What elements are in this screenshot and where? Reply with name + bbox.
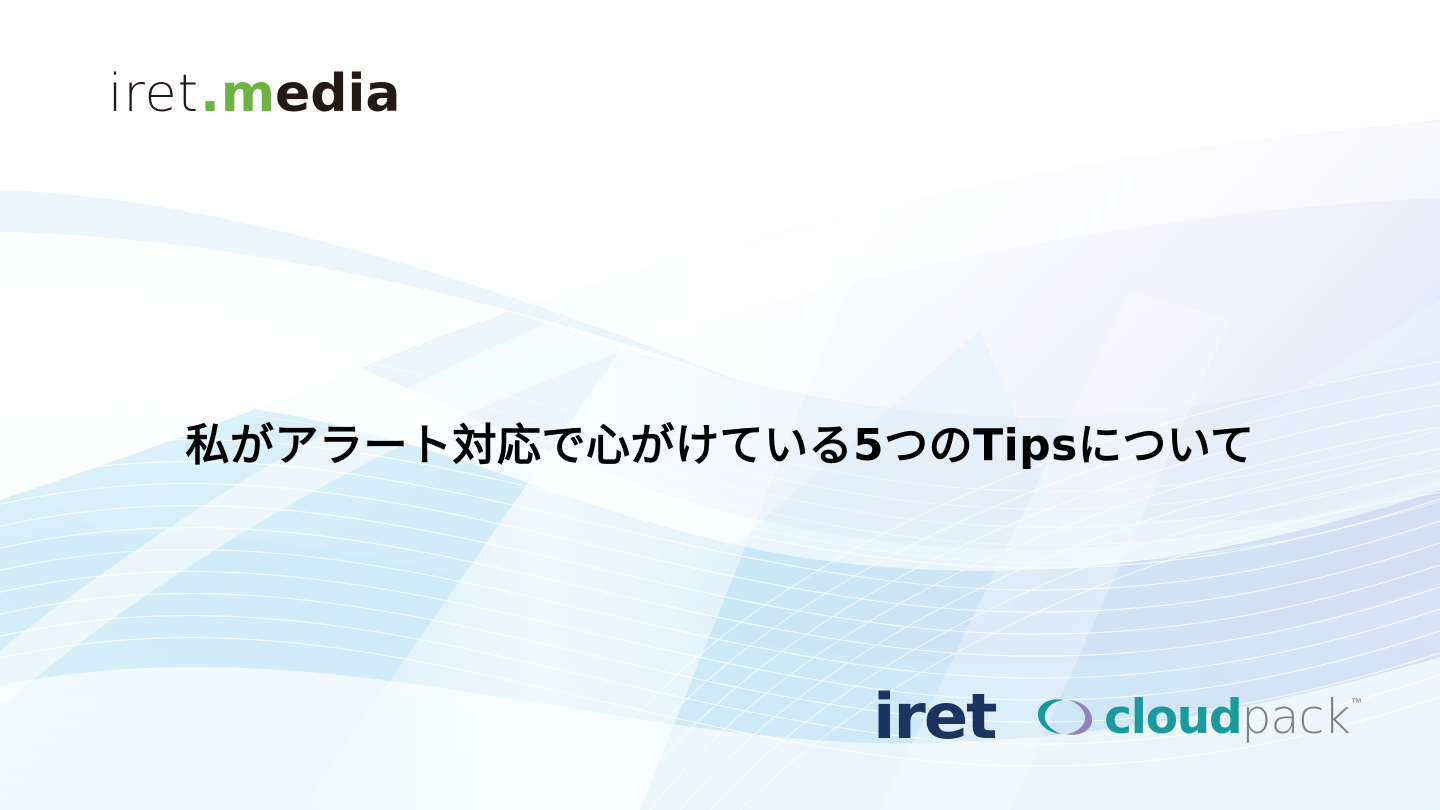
brand-iret-text: iret <box>108 68 199 120</box>
title-slide: iret.media 私がアラート対応で心がけている5つのTipsについて ir… <box>0 0 1440 810</box>
brand-edia-text: edia <box>275 68 400 120</box>
brand-m-text: m <box>221 68 275 120</box>
slide-title: 私がアラート対応で心がけている5つのTipsについて <box>185 421 1254 472</box>
footer-logo-group: iret cloudpack™ <box>873 686 1362 748</box>
title-block: 私がアラート対応で心がけている5つのTipsについて <box>0 392 1440 502</box>
cloudpack-pack-text: pack <box>1242 694 1351 741</box>
brand-dot: . <box>200 68 220 120</box>
cloudpack-cloud-text: cloud <box>1104 694 1241 741</box>
iret-media-logo: iret.media <box>108 68 400 130</box>
iret-logo: iret <box>873 686 995 748</box>
cloudpack-logo: cloudpack™ <box>1034 694 1362 741</box>
swirl-icon <box>1034 694 1096 740</box>
trademark-symbol: ™ <box>1351 698 1362 709</box>
cloudpack-wordmark: cloudpack™ <box>1104 694 1362 741</box>
